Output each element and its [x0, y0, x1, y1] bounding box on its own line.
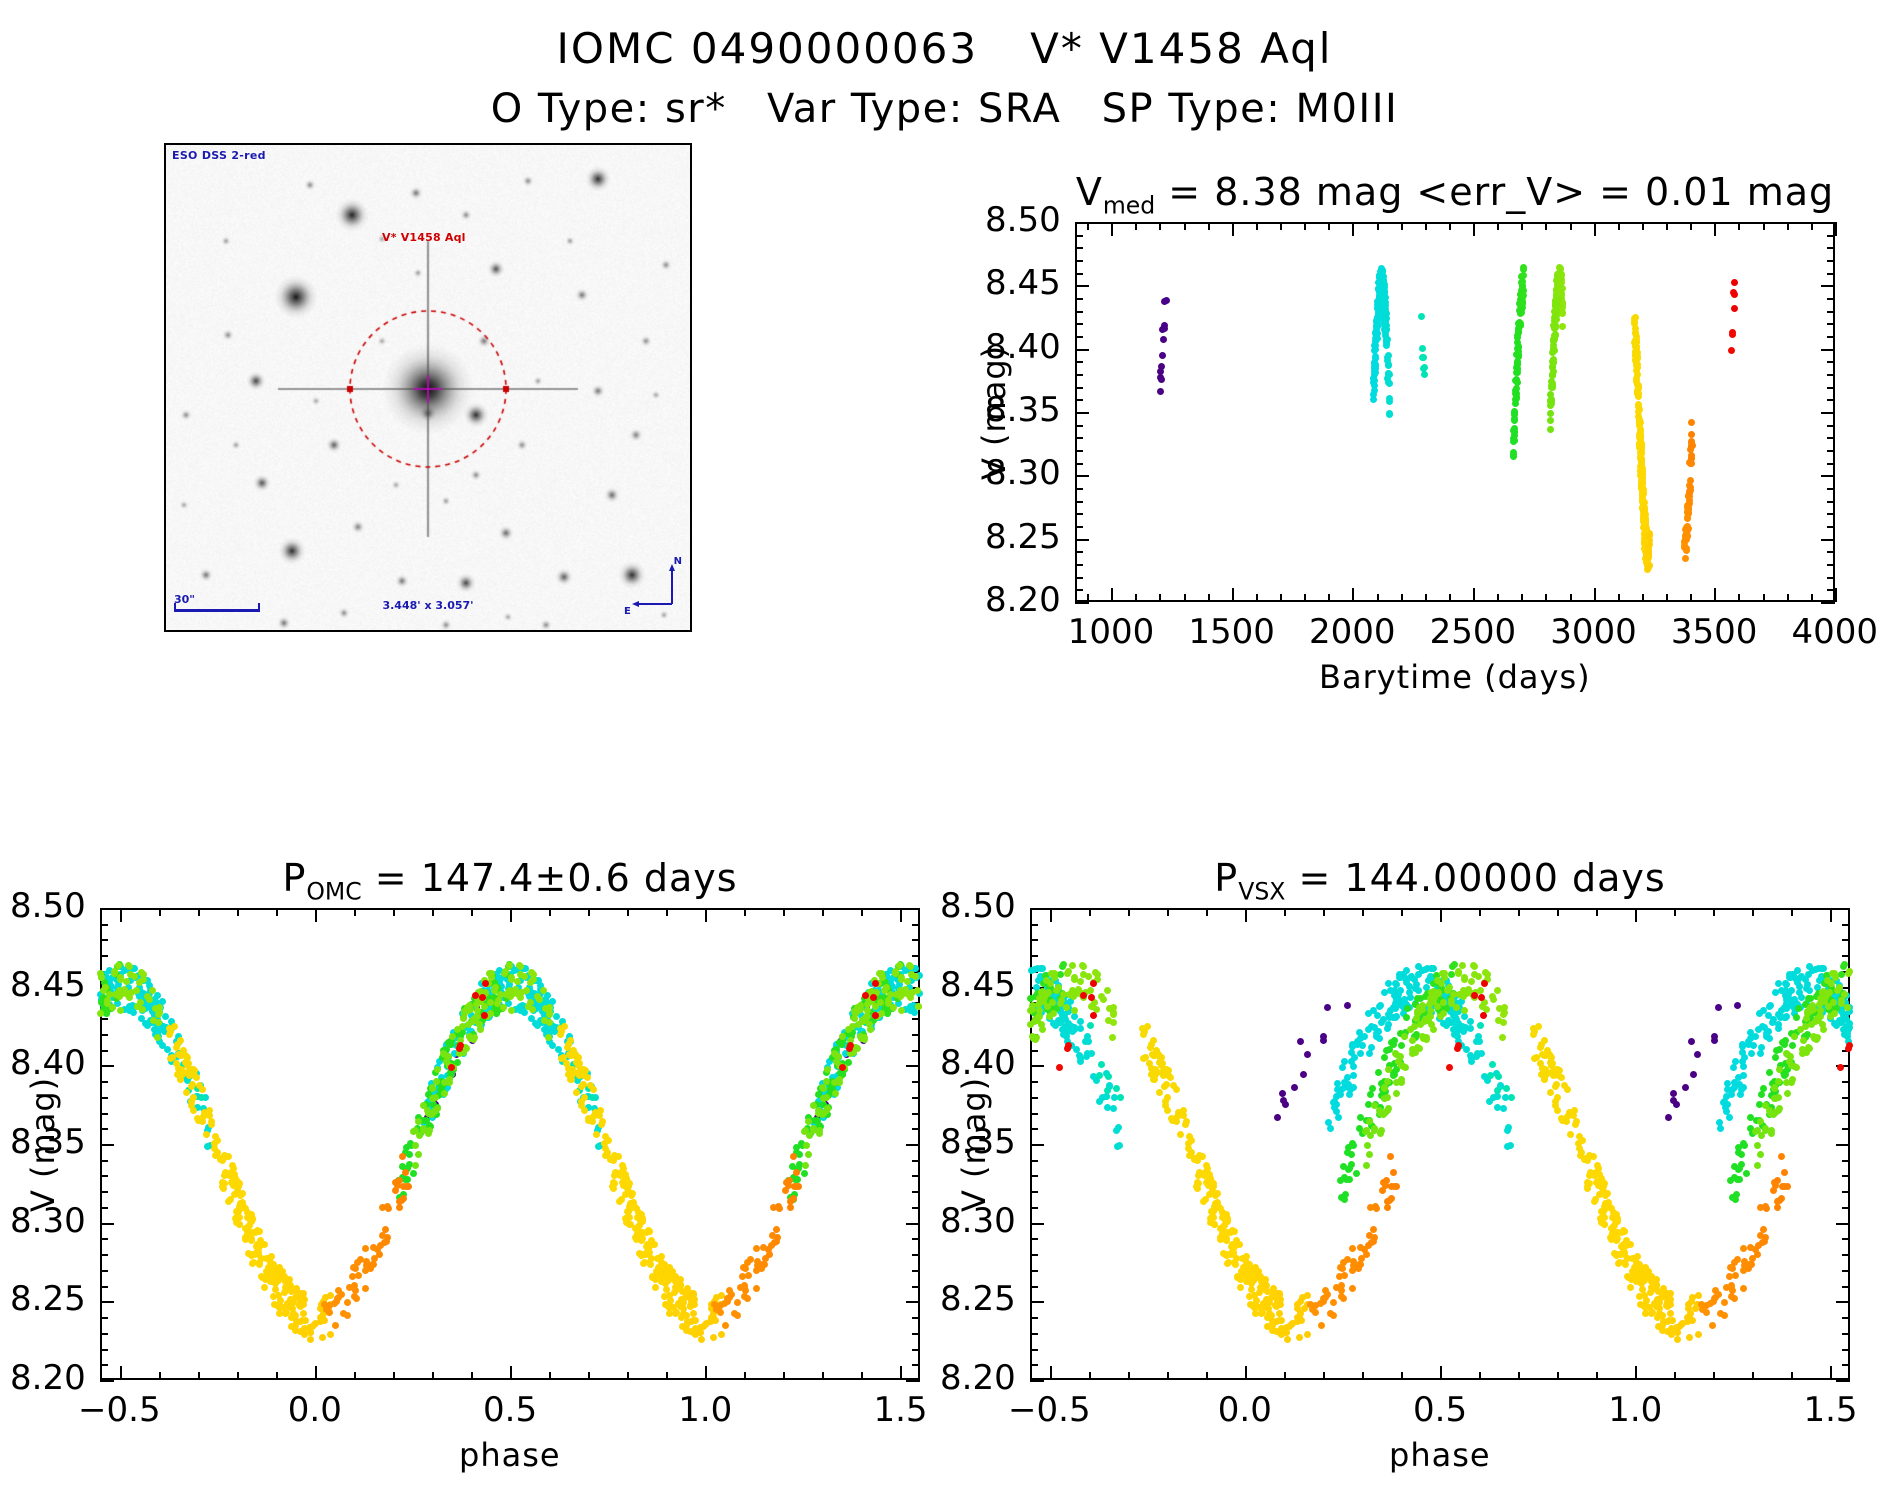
- x-axis-minor-tick: [1791, 908, 1793, 916]
- x-axis-minor-tick: [237, 908, 239, 916]
- data-point: [1283, 1324, 1290, 1331]
- data-point: [832, 1051, 839, 1058]
- data-point: [1684, 515, 1691, 522]
- data-point: [1060, 991, 1067, 998]
- x-axis-minor-tick: [1159, 222, 1161, 230]
- data-point: [832, 1090, 839, 1097]
- y-axis-tick: [100, 1380, 114, 1382]
- data-point: [640, 1251, 647, 1258]
- x-axis-minor-tick: [1690, 222, 1692, 230]
- data-point: [392, 1187, 399, 1194]
- x-axis-minor-tick: [1811, 222, 1813, 230]
- data-point: [1420, 1035, 1427, 1042]
- x-axis-minor-tick: [1557, 908, 1559, 916]
- data-point: [878, 1010, 885, 1017]
- data-point: [1071, 976, 1078, 983]
- y-axis-minor-tick: [1827, 501, 1835, 503]
- data-point: [1740, 1072, 1747, 1079]
- x-axis-minor-tick: [1184, 222, 1186, 230]
- y-axis-tick: [1821, 602, 1835, 604]
- data-point: [1336, 1273, 1343, 1280]
- data-point: [1811, 1035, 1818, 1042]
- x-axis-minor-tick: [1596, 908, 1598, 916]
- data-point: [1350, 1063, 1357, 1070]
- y-axis-minor-tick: [1842, 1238, 1850, 1240]
- data-point: [580, 1081, 587, 1088]
- data-point: [1781, 1169, 1788, 1176]
- x-axis-tick: [510, 1366, 512, 1380]
- x-axis-minor-tick: [276, 1372, 278, 1380]
- y-axis-minor-tick: [1075, 273, 1083, 275]
- data-point: [352, 1265, 359, 1272]
- y-axis-tick-label: 8.25: [10, 1279, 86, 1319]
- data-point: [1467, 1025, 1474, 1032]
- y-axis-minor-tick: [1030, 1254, 1038, 1256]
- data-point: [1501, 1004, 1508, 1011]
- y-axis-tick: [1075, 285, 1089, 287]
- data-point: [508, 1007, 515, 1014]
- data-point: [1837, 1064, 1844, 1071]
- y-axis-minor-tick: [100, 1349, 108, 1351]
- data-point: [1826, 989, 1833, 996]
- data-point: [1115, 1124, 1122, 1131]
- scale-bar: [174, 609, 260, 612]
- y-axis-tick: [1075, 222, 1089, 224]
- data-point: [1110, 1019, 1117, 1026]
- y-axis-minor-tick: [1827, 311, 1835, 313]
- data-point: [718, 1331, 725, 1338]
- data-point: [1384, 1094, 1391, 1101]
- x-axis-minor-tick: [1690, 594, 1692, 602]
- data-point: [1471, 992, 1478, 999]
- data-point: [1841, 991, 1848, 998]
- x-axis-minor-tick: [1557, 1372, 1559, 1380]
- x-axis-minor-tick: [1328, 594, 1330, 602]
- data-point: [724, 1298, 731, 1305]
- data-point: [555, 1046, 562, 1053]
- data-point: [212, 1133, 219, 1140]
- otype-value: sr*: [665, 86, 727, 132]
- data-point: [885, 1000, 892, 1007]
- data-point: [786, 1177, 793, 1184]
- data-point: [1277, 1301, 1284, 1308]
- data-point: [1470, 962, 1477, 969]
- y-axis-minor-tick: [1827, 526, 1835, 528]
- lightcurve-title: Vmed = 8.38 mag <err_V> = 0.01 mag: [1075, 170, 1835, 220]
- data-point: [915, 1003, 922, 1010]
- data-point: [1468, 1058, 1475, 1065]
- data-point: [128, 989, 135, 996]
- y-axis-tick-label: 8.30: [940, 1201, 1016, 1241]
- data-point: [362, 1285, 369, 1292]
- x-axis-tick: [1635, 1366, 1637, 1380]
- x-axis-minor-tick: [471, 1372, 473, 1380]
- x-axis-minor-tick: [1787, 594, 1789, 602]
- data-point: [1382, 314, 1389, 321]
- data-point: [1638, 457, 1645, 464]
- y-axis-minor-tick: [1842, 1207, 1850, 1209]
- y-axis-minor-tick: [1030, 1050, 1038, 1052]
- data-point: [1500, 1011, 1507, 1018]
- data-point: [1398, 1076, 1405, 1083]
- data-point: [1056, 1064, 1063, 1071]
- y-axis-minor-tick: [1842, 1160, 1850, 1162]
- data-point: [1209, 1188, 1216, 1195]
- y-axis-minor-tick: [100, 1034, 108, 1036]
- x-axis-tick: [1050, 908, 1052, 922]
- data-point: [1721, 1299, 1728, 1306]
- data-point: [1844, 1030, 1851, 1037]
- x-axis-minor-tick: [1618, 594, 1620, 602]
- finder-chart: ESO DSS 2-red V* V1458 Aql 30" 3.448' x …: [164, 143, 692, 632]
- data-point: [1729, 1086, 1736, 1093]
- data-point: [1088, 994, 1095, 1001]
- data-point: [276, 1310, 283, 1317]
- data-point: [1173, 1086, 1180, 1093]
- y-axis-tick: [1821, 349, 1835, 351]
- x-axis-tick: [705, 908, 707, 922]
- data-point: [1517, 309, 1524, 316]
- data-point: [1638, 446, 1645, 453]
- phase-omc-title: POMC = 147.4±0.6 days: [100, 856, 920, 906]
- x-axis-minor-tick: [1167, 1372, 1169, 1380]
- y-axis-tick: [1030, 1144, 1044, 1146]
- data-point: [1709, 1322, 1716, 1329]
- data-point: [1695, 1331, 1702, 1338]
- x-axis-minor-tick: [1666, 594, 1668, 602]
- data-point: [1731, 291, 1738, 298]
- x-axis-minor-tick: [1425, 594, 1427, 602]
- data-point: [1831, 1020, 1838, 1027]
- data-point: [1694, 1051, 1701, 1058]
- data-point: [1045, 989, 1052, 996]
- y-axis-tick-label: 8.25: [985, 517, 1061, 557]
- x-axis-minor-tick: [198, 908, 200, 916]
- data-point: [1110, 1105, 1117, 1112]
- data-point: [662, 1301, 669, 1308]
- data-point: [448, 1064, 455, 1071]
- data-point: [532, 1020, 539, 1027]
- phase-omc-title-sub: OMC: [306, 878, 361, 906]
- data-point: [1110, 1011, 1117, 1018]
- y-axis-minor-tick: [912, 1364, 920, 1366]
- data-point: [1682, 555, 1689, 562]
- data-point: [1094, 971, 1101, 978]
- x-axis-minor-tick: [1449, 222, 1451, 230]
- x-axis-minor-tick: [1570, 222, 1572, 230]
- data-point: [1758, 1091, 1765, 1098]
- data-point: [872, 980, 879, 987]
- y-axis-minor-tick: [1075, 361, 1083, 363]
- data-point: [858, 1035, 865, 1042]
- y-axis-minor-tick: [1075, 501, 1083, 503]
- x-axis-tick: [1050, 1366, 1052, 1380]
- x-axis-minor-tick: [1206, 1372, 1208, 1380]
- data-point: [1082, 1038, 1089, 1045]
- data-point: [1740, 1267, 1747, 1274]
- data-point: [1057, 1000, 1064, 1007]
- x-axis-minor-tick: [1377, 594, 1379, 602]
- x-axis-tick: [1352, 222, 1354, 236]
- data-point: [1739, 1049, 1746, 1056]
- x-axis-minor-tick: [1328, 222, 1330, 230]
- x-axis-tick: [1111, 588, 1113, 602]
- data-point: [1157, 374, 1164, 381]
- y-axis-minor-tick: [1030, 1175, 1038, 1177]
- x-axis-minor-tick: [1479, 908, 1481, 916]
- y-axis-minor-tick: [1075, 564, 1083, 566]
- data-point: [1586, 1180, 1593, 1187]
- y-axis-minor-tick: [1827, 336, 1835, 338]
- data-point: [1783, 1005, 1790, 1012]
- y-axis-minor-tick: [100, 1097, 108, 1099]
- data-point: [801, 1128, 808, 1135]
- y-axis-tick-label: 8.45: [940, 965, 1016, 1005]
- data-point: [816, 1130, 823, 1137]
- y-axis-minor-tick: [100, 924, 108, 926]
- data-point: [1419, 354, 1426, 361]
- otype-label: O Type:: [491, 86, 651, 132]
- x-axis-tick: [120, 908, 122, 922]
- data-point: [1559, 323, 1566, 330]
- data-point: [1381, 1084, 1388, 1091]
- x-axis-minor-tick: [1545, 222, 1547, 230]
- data-point: [1555, 270, 1562, 277]
- data-point: [1468, 978, 1475, 985]
- data-point: [1063, 1004, 1070, 1011]
- data-point: [221, 1180, 228, 1187]
- data-point: [745, 1272, 752, 1279]
- data-point: [1757, 1050, 1764, 1057]
- data-point: [1346, 1176, 1353, 1183]
- data-point: [183, 1089, 190, 1096]
- x-axis-minor-tick: [198, 1372, 200, 1380]
- data-point: [581, 1107, 588, 1114]
- data-point: [599, 1118, 606, 1125]
- data-point: [867, 1026, 874, 1033]
- y-axis-minor-tick: [1827, 260, 1835, 262]
- data-point: [1109, 1034, 1116, 1041]
- x-axis-minor-tick: [1206, 908, 1208, 916]
- y-axis-tick: [1836, 1144, 1850, 1146]
- data-point: [545, 1034, 552, 1041]
- data-point: [1327, 1310, 1334, 1317]
- data-point: [502, 968, 509, 975]
- data-point: [839, 1064, 846, 1071]
- y-axis-minor-tick: [1075, 437, 1083, 439]
- data-point: [1338, 1086, 1345, 1093]
- data-point: [1409, 1046, 1416, 1053]
- y-axis-tick-label: 8.35: [940, 1122, 1016, 1162]
- x-axis-tick: [900, 1366, 902, 1380]
- y-axis-minor-tick: [1842, 1113, 1850, 1115]
- data-point: [1264, 1314, 1271, 1321]
- y-axis-minor-tick: [1075, 488, 1083, 490]
- data-point: [1050, 1010, 1057, 1017]
- y-axis-tick: [906, 1223, 920, 1225]
- data-point: [117, 1007, 124, 1014]
- data-point: [1157, 388, 1164, 395]
- data-point: [1350, 1072, 1357, 1079]
- data-point: [849, 1023, 856, 1030]
- y-axis-tick: [906, 1380, 920, 1382]
- data-point: [1481, 980, 1488, 987]
- y-axis-minor-tick: [100, 955, 108, 957]
- x-axis-minor-tick: [1159, 594, 1161, 602]
- y-axis-minor-tick: [1030, 1160, 1038, 1162]
- data-point: [1224, 1251, 1231, 1258]
- data-point: [1511, 437, 1518, 444]
- y-axis-tick-label: 8.20: [940, 1358, 1016, 1398]
- data-point: [97, 1010, 104, 1017]
- data-point: [581, 1072, 588, 1079]
- data-point: [625, 1188, 632, 1195]
- data-point: [1703, 1309, 1710, 1316]
- y-axis-minor-tick: [100, 939, 108, 941]
- data-point: [540, 987, 547, 994]
- y-axis-minor-tick: [1075, 311, 1083, 313]
- data-point: [396, 1177, 403, 1184]
- y-axis-minor-tick: [912, 1191, 920, 1193]
- x-axis-minor-tick: [1521, 594, 1523, 602]
- data-point: [416, 1132, 423, 1139]
- data-point: [403, 1144, 410, 1151]
- data-point: [1551, 347, 1558, 354]
- data-point: [434, 1066, 441, 1073]
- y-axis-minor-tick: [912, 1333, 920, 1335]
- x-axis-tick: [1473, 588, 1475, 602]
- data-point: [1421, 371, 1428, 378]
- data-point: [1641, 538, 1648, 545]
- data-point: [1383, 326, 1390, 333]
- phase-vsx-title-prefix: P: [1214, 856, 1238, 900]
- data-point: [472, 992, 479, 999]
- y-axis-minor-tick: [100, 1081, 108, 1083]
- data-point: [275, 1292, 282, 1299]
- x-axis-tick-label: 1.5: [1803, 1390, 1857, 1430]
- x-axis-minor-tick: [783, 1372, 785, 1380]
- data-point: [1784, 1090, 1791, 1097]
- data-point: [1547, 426, 1554, 433]
- y-axis-minor-tick: [1030, 1317, 1038, 1319]
- x-axis-minor-tick: [1128, 908, 1130, 916]
- y-axis-minor-tick: [1827, 488, 1835, 490]
- data-point: [585, 1115, 592, 1122]
- data-point: [189, 1081, 196, 1088]
- x-axis-minor-tick: [1280, 222, 1282, 230]
- y-axis-minor-tick: [1827, 564, 1835, 566]
- survey-label: ESO DSS 2-red: [172, 149, 266, 162]
- x-axis-tick: [1835, 588, 1837, 602]
- y-axis-minor-tick: [1030, 939, 1038, 941]
- x-axis-minor-tick: [1304, 222, 1306, 230]
- y-axis-minor-tick: [1075, 399, 1083, 401]
- x-axis-minor-tick: [1087, 594, 1089, 602]
- x-axis-minor-tick: [393, 908, 395, 916]
- y-axis-minor-tick: [100, 1128, 108, 1130]
- y-axis-minor-tick: [100, 1160, 108, 1162]
- x-axis-tick-label: 3000: [1550, 612, 1637, 652]
- data-point: [753, 1285, 760, 1292]
- y-axis-minor-tick: [100, 1238, 108, 1240]
- x-axis-minor-tick: [1521, 222, 1523, 230]
- data-point: [1840, 1012, 1847, 1019]
- data-point: [1346, 1165, 1353, 1172]
- x-axis-tick: [1594, 222, 1596, 236]
- data-point: [710, 1334, 717, 1341]
- data-point: [1239, 1255, 1246, 1262]
- data-point: [1357, 1244, 1364, 1251]
- data-point: [1427, 1013, 1434, 1020]
- data-point: [1384, 1204, 1391, 1211]
- data-point: [1673, 1324, 1680, 1331]
- data-point: [1345, 1144, 1352, 1151]
- x-axis-minor-tick: [1284, 908, 1286, 916]
- lightcurve-title-text: = 8.38 mag <err_V> = 0.01 mag: [1168, 170, 1834, 214]
- data-point: [1029, 1006, 1036, 1013]
- data-point: [1748, 1050, 1755, 1057]
- data-point: [1183, 1118, 1190, 1125]
- x-axis-minor-tick: [1479, 1372, 1481, 1380]
- data-point: [870, 994, 877, 1001]
- data-point: [1110, 1004, 1117, 1011]
- data-point: [1386, 380, 1393, 387]
- data-point: [290, 1299, 297, 1306]
- y-axis-minor-tick: [1842, 955, 1850, 957]
- x-axis-minor-tick: [1184, 594, 1186, 602]
- x-axis-minor-tick: [1135, 594, 1137, 602]
- data-point: [1627, 1241, 1634, 1248]
- y-axis-minor-tick: [1842, 1128, 1850, 1130]
- data-point: [1455, 1042, 1462, 1049]
- data-point: [1557, 287, 1564, 294]
- data-point: [1320, 1298, 1327, 1305]
- data-point: [1736, 1176, 1743, 1183]
- data-point: [1831, 1010, 1838, 1017]
- data-point: [1393, 1013, 1400, 1020]
- data-point: [1520, 292, 1527, 299]
- phase-vsx-title-sub: VSX: [1238, 878, 1285, 906]
- data-point: [753, 1267, 760, 1274]
- y-axis-tick: [100, 1065, 114, 1067]
- y-axis-minor-tick: [1030, 1113, 1038, 1115]
- y-axis-minor-tick: [1075, 235, 1083, 237]
- data-point: [1063, 1030, 1070, 1037]
- data-point: [1726, 1273, 1733, 1280]
- x-axis-minor-tick: [1642, 222, 1644, 230]
- data-point: [1688, 438, 1695, 445]
- y-axis-minor-tick: [912, 1270, 920, 1272]
- data-point: [1519, 282, 1526, 289]
- y-axis-minor-tick: [1030, 1349, 1038, 1351]
- data-point: [1296, 1314, 1303, 1321]
- data-point: [1757, 1151, 1764, 1158]
- data-point: [1765, 1012, 1772, 1019]
- x-axis-minor-tick: [1401, 908, 1403, 916]
- data-point: [517, 1007, 524, 1014]
- x-axis-tick: [1232, 222, 1234, 236]
- x-axis-minor-tick: [783, 908, 785, 916]
- data-point: [691, 1301, 698, 1308]
- data-point: [1688, 1038, 1695, 1045]
- y-axis-minor-tick: [1827, 298, 1835, 300]
- data-point: [1775, 1094, 1782, 1101]
- data-point: [1411, 1023, 1418, 1030]
- data-point: [611, 1172, 618, 1179]
- compass-north-label: N: [674, 556, 682, 567]
- x-axis-minor-tick: [1323, 1372, 1325, 1380]
- y-axis-minor-tick: [912, 1207, 920, 1209]
